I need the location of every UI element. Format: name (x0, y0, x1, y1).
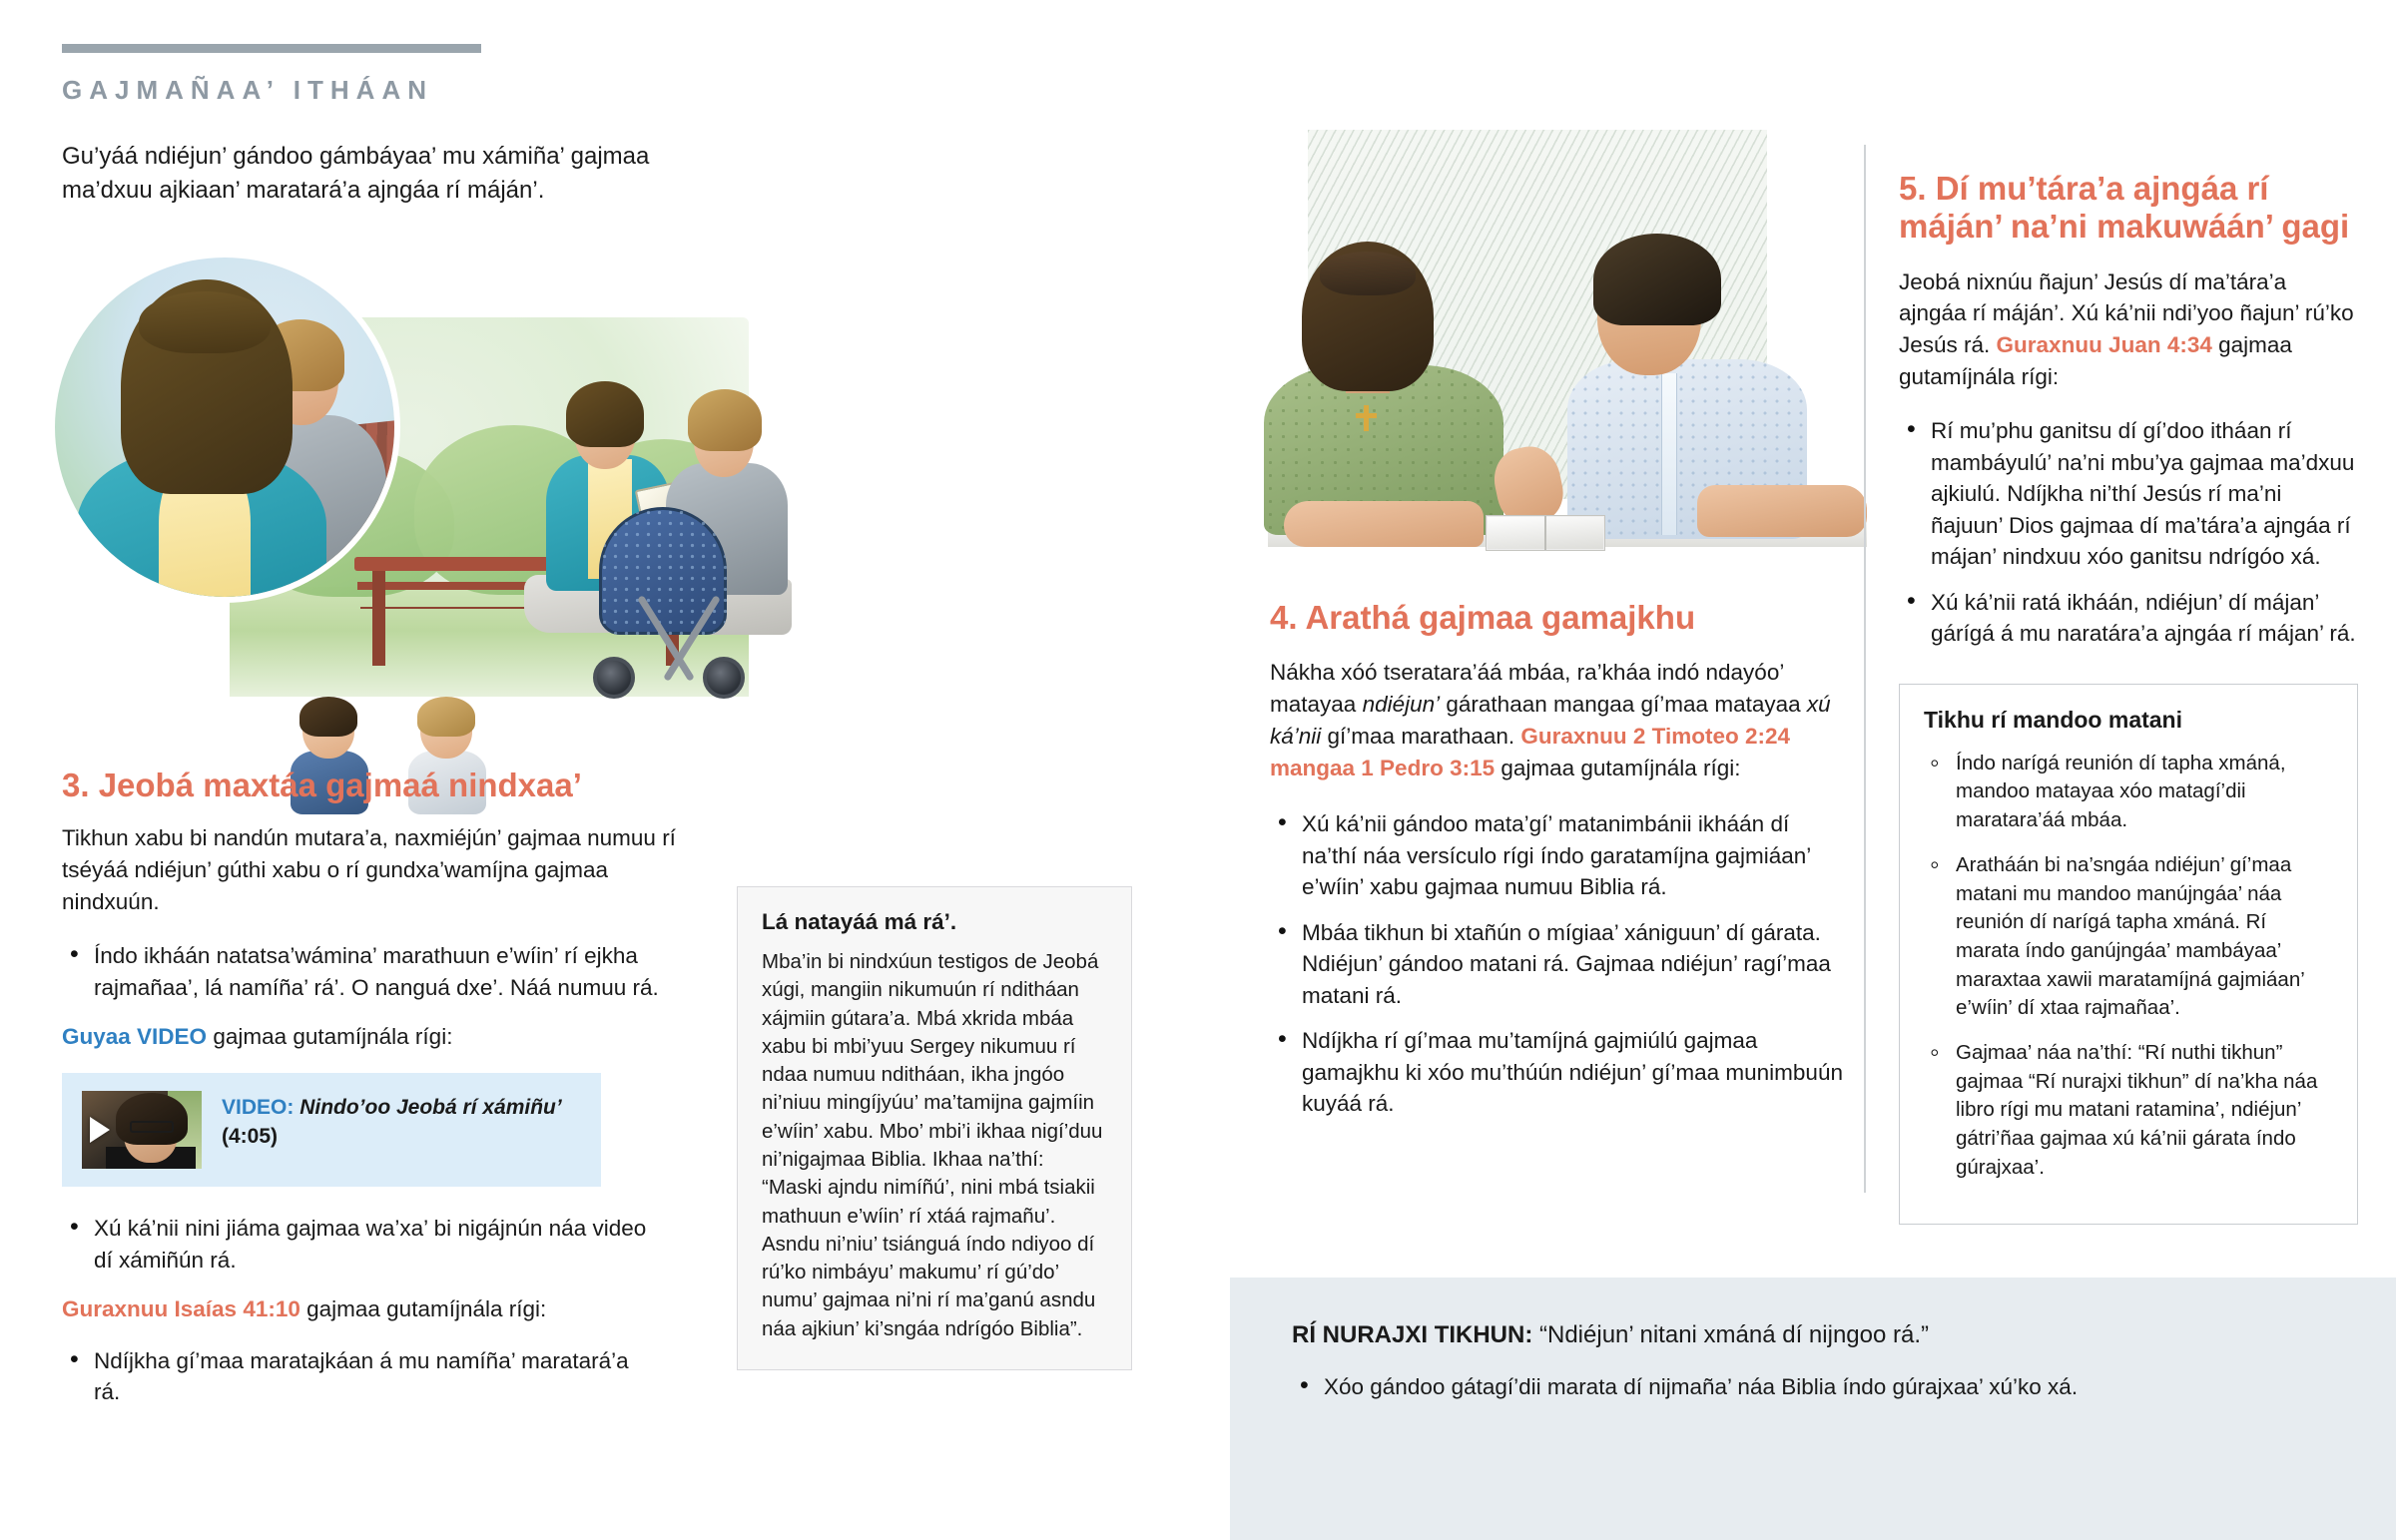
illus1-inset-bubble (55, 257, 394, 597)
section-4-body: Nákha xóó tseratara’áá mbáa, ra’kháa ind… (1270, 657, 1849, 784)
footer-label: RÍ NURAJXI TIKHUN: (1292, 1321, 1532, 1348)
video-label: VIDEO: (222, 1096, 294, 1119)
video-link[interactable]: Guyaa VIDEO (62, 1024, 207, 1049)
section-3-body: Tikhun xabu bi nandún mutara’a, naxmiéjú… (62, 822, 691, 918)
s4-text-mid: gárathaan mangaa gí’maa matayaa (1440, 692, 1807, 717)
list-item: Rí mu’phu ganitsu dí gí’doo itháan rí ma… (1899, 415, 2358, 573)
section-5-heading: 5. Dí mu’tára’a ajngáa rí máján’ na’ni m… (1899, 170, 2358, 247)
video-meta: VIDEO: Nindo’oo Jeobá rí xámiñu’ (4:05) (222, 1091, 562, 1152)
footer-review-bar: RÍ NURAJXI TIKHUN: “Ndiéjun’ nitani xmán… (1230, 1278, 2396, 1540)
illustration-park-bench (55, 257, 754, 707)
illus1-stroller-wheel (703, 657, 745, 699)
video-duration: (4:05) (222, 1125, 278, 1148)
scripture-lead-rest: gajmaa gutamíjnála rígi: (300, 1296, 546, 1321)
header-rule (62, 44, 481, 53)
section-3-bullets-a: Índo ikháán natatsa’wámina’ marathuun e’… (62, 940, 661, 1003)
video-title: Nindo’oo Jeobá rí xámiñu’ (299, 1096, 562, 1119)
video-card[interactable]: VIDEO: Nindo’oo Jeobá rí xámiñu’ (4:05) (62, 1073, 601, 1187)
s4-scripture-rest: gajmaa gutamíjnála rígi: (1495, 756, 1740, 780)
section-3-bullets-c: Ndíjkha gí’maa maratajkáan á mu namíña’ … (62, 1345, 661, 1408)
illus2-man-hair (1593, 234, 1721, 325)
section-5: 5. Dí mu’tára’a ajngáa rí máján’ na’ni m… (1899, 170, 2358, 1225)
illus1-woman2-hair (688, 389, 762, 451)
section-5-body: Jeobá nixnúu ñajun’ Jesús dí ma’tára’a a… (1899, 266, 2358, 394)
list-item: Índo narígá reunión dí tapha xmáná, mand… (1924, 750, 2333, 835)
list-item: Aratháán bi na’sngáa ndiéjun’ gí’maa mat… (1924, 851, 2333, 1023)
tips-box-bullets: Índo narígá reunión dí tapha xmáná, mand… (1924, 750, 2333, 1183)
intro-paragraph: Gu’yáá ndiéjun’ gándoo gámbáyaa’ mu xámi… (62, 140, 741, 208)
column-divider (1864, 145, 1866, 1193)
list-item: Índo ikháán natatsa’wámina’ marathuun e’… (62, 940, 661, 1003)
illus1-stroller-wheel (593, 657, 635, 699)
tips-box-heading: Tikhu rí mandoo matani (1924, 707, 2333, 734)
left-column: GAJMAÑAA’ ITHÁAN Gu’yáá ndiéjun’ gándoo … (62, 44, 761, 208)
illus1-woman-hair (566, 381, 644, 447)
video-lead-rest: gajmaa gutamíjnála rígi: (207, 1024, 452, 1049)
tips-box: Tikhu rí mandoo matani Índo narígá reuni… (1899, 684, 2358, 1226)
illus2-cross-necklace (1364, 405, 1369, 431)
illustration-bible-discussion (1268, 130, 1867, 569)
section-4: 4. Arathá gajmaa gamajkhu Nákha xóó tser… (1270, 599, 1849, 1134)
section-3: 3. Jeobá maxtáa gajmaá nindxaa’ Tikhun x… (62, 767, 721, 1422)
section-3-scripture-lead: Guraxnuu Isaías 41:10 gajmaa gutamíjnála… (62, 1293, 721, 1325)
play-icon[interactable] (90, 1117, 110, 1143)
section-4-heading: 4. Arathá gajmaa gamajkhu (1270, 599, 1849, 637)
section-5-bullets: Rí mu’phu ganitsu dí gí’doo itháan rí ma… (1899, 415, 2358, 650)
illus2-man-shirt-placket (1661, 373, 1677, 535)
illus1-child-hair (299, 697, 357, 737)
s4-text-after: gí’maa marathaan. (1321, 724, 1520, 749)
list-item: Gajmaa’ náa na’thí: “Rí nuthi tikhun” ga… (1924, 1039, 2333, 1182)
illus2-open-bible (1486, 515, 1605, 551)
footer-bullets: Xóo gándoo gátagí’dii marata dí nijmaña’… (1292, 1371, 2340, 1403)
page-kicker: GAJMAÑAA’ ITHÁAN (62, 75, 761, 106)
illus2-woman-bangs (1320, 252, 1416, 295)
list-item: Ndíjkha gí’maa maratajkáan á mu namíña’ … (62, 1345, 661, 1408)
s4-italic-1: ndiéjun’ (1363, 692, 1441, 717)
video-thumbnail[interactable] (82, 1091, 202, 1169)
list-item: Xú ká’nii gándoo mata’gí’ matanimbánii i… (1270, 808, 1849, 903)
list-item: Xú ká’nii nini jiáma gajmaa wa’xa’ bi ni… (62, 1213, 661, 1276)
section-3-heading: 3. Jeobá maxtáa gajmaá nindxaa’ (62, 767, 721, 804)
section-4-bullets: Xú ká’nii gándoo mata’gí’ matanimbánii i… (1270, 808, 1849, 1120)
scripture-reference[interactable]: Guraxnuu Isaías 41:10 (62, 1296, 300, 1321)
illus1-stroller (599, 507, 749, 697)
section-3-video-lead: Guyaa VIDEO gajmaa gutamíjnála rígi: (62, 1021, 721, 1053)
illus2-woman-arms (1284, 501, 1484, 547)
footer-heading: RÍ NURAJXI TIKHUN: “Ndiéjun’ nitani xmán… (1292, 1321, 2340, 1349)
footer-quote: “Ndiéjun’ nitani xmáná dí nijngoo rá.” (1532, 1321, 1929, 1348)
experience-sidebox: Lá natayáá má rá’. Mba’in bi nindxúun te… (737, 886, 1132, 1370)
list-item: Ndíjkha rí gí’maa mu’tamíjná gajmiúlú ga… (1270, 1025, 1849, 1120)
list-item: Xú ká’nii ratá ikháán, ndiéjun’ dí májan… (1899, 587, 2358, 650)
illus1-child-hair (417, 697, 475, 737)
scripture-reference[interactable]: Guraxnuu Juan 4:34 (1997, 332, 2212, 357)
sidebox-heading: Lá natayáá má rá’. (762, 909, 1107, 935)
sidebox-body: Mba’in bi nindxúun testigos de Jeobá xúg… (762, 948, 1107, 1343)
list-item: Mbáa tikhun bi xtañún o mígiaa’ xániguun… (1270, 917, 1849, 1012)
section-3-bullets-b: Xú ká’nii nini jiáma gajmaa wa’xa’ bi ni… (62, 1213, 661, 1276)
illus1-inset-person1-bangs (139, 291, 271, 353)
illus2-man-arm (1697, 485, 1867, 537)
video-thumb-glasses (130, 1121, 174, 1133)
list-item: Xóo gándoo gátagí’dii marata dí nijmaña’… (1292, 1371, 2340, 1403)
video-thumb-hair (116, 1093, 188, 1145)
